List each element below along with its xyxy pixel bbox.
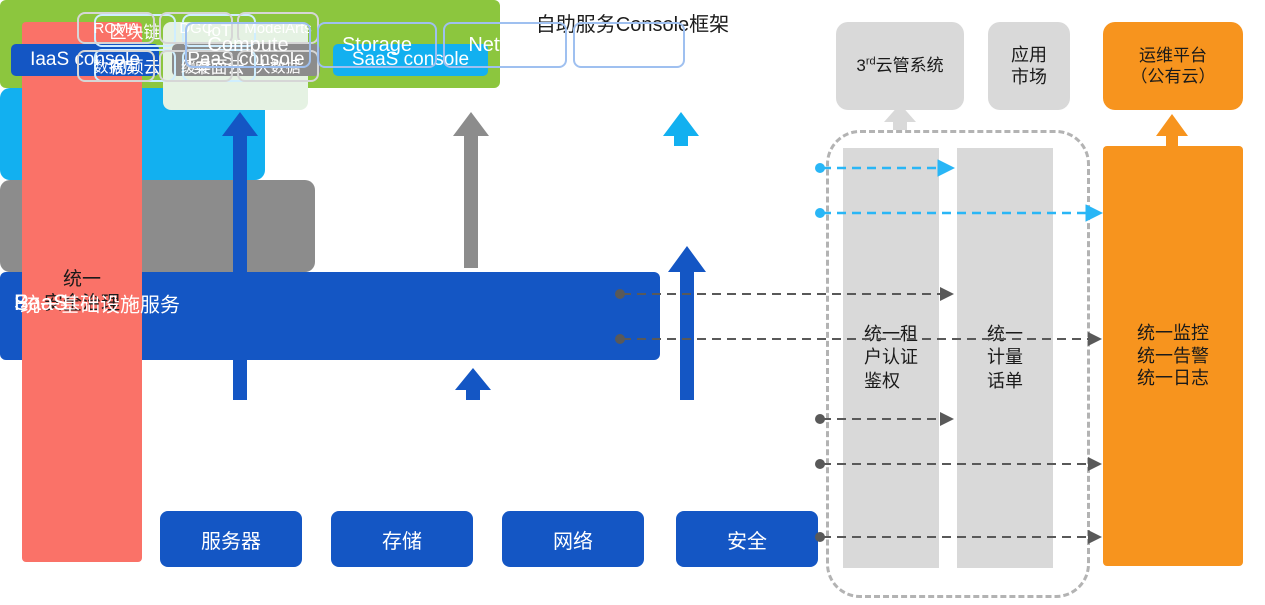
paas-chip-label: ROMA: [94, 20, 139, 37]
arrow-saas-to-console: [663, 112, 699, 146]
paas-chip-database[interactable]: 数据库: [77, 50, 155, 82]
paas-chip-label: 数据库: [93, 56, 138, 77]
hardware-box-server: 服务器: [160, 511, 302, 567]
infra-chip-label: Storage: [342, 34, 412, 57]
unified-metering-billing-label: 统一计量话单: [987, 323, 1023, 393]
arrow-ops-column-to-ops-platform: [1156, 114, 1188, 146]
architecture-diagram: 统一安全治理 API网关 自助服务Console框架 IaaS console …: [0, 0, 1265, 605]
unified-tenant-auth-label: 统一租户认证鉴权: [864, 323, 918, 393]
infra-chip-compute[interactable]: Compute: [185, 22, 311, 68]
hardware-box-label: 存储: [382, 525, 422, 554]
arrow-paas-to-console: [453, 112, 489, 268]
arrow-infra-to-paas: [455, 368, 491, 400]
third-party-cloud-mgmt-label: 3rd云管系统: [856, 55, 943, 76]
ordinal-superscript: rd: [866, 56, 876, 68]
ops-platform-box: 运维平台（公有云）: [1103, 22, 1243, 110]
app-market-label: 应用市场: [1011, 44, 1047, 89]
infra-chip-storage[interactable]: Storage: [317, 22, 437, 68]
hardware-box-network: 网络: [502, 511, 644, 567]
infra-chip-cce[interactable]: CCE: [573, 22, 685, 68]
arrow-infra-to-saas: [668, 246, 706, 400]
unified-tenant-auth-column: 统一租户认证鉴权: [843, 148, 939, 568]
hardware-box-label: 安全: [727, 525, 767, 554]
infra-chip-network[interactable]: Network: [443, 22, 567, 68]
unified-monitoring-panel: 统一监控统一告警统一日志: [1103, 146, 1243, 566]
hardware-box-storage: 存储: [331, 511, 473, 567]
paas-chip-roma[interactable]: ROMA: [77, 12, 155, 44]
infra-chip-label: CCE: [608, 34, 650, 57]
hardware-box-security: 安全: [676, 511, 818, 567]
third-party-cloud-mgmt-box: 3rd云管系统: [836, 22, 964, 110]
unified-infrastructure-label: 统一基础设施服务: [20, 288, 180, 317]
infra-chip-label: Compute: [207, 34, 288, 57]
infra-chip-label: Network: [468, 34, 541, 57]
hardware-box-label: 服务器: [201, 525, 261, 554]
app-market-box: 应用市场: [988, 22, 1070, 110]
ops-platform-label: 运维平台（公有云）: [1131, 45, 1216, 88]
hardware-box-label: 网络: [553, 525, 593, 554]
unified-metering-billing-column: 统一计量话单: [957, 148, 1053, 568]
unified-monitoring-label: 统一监控统一告警统一日志: [1137, 322, 1209, 390]
